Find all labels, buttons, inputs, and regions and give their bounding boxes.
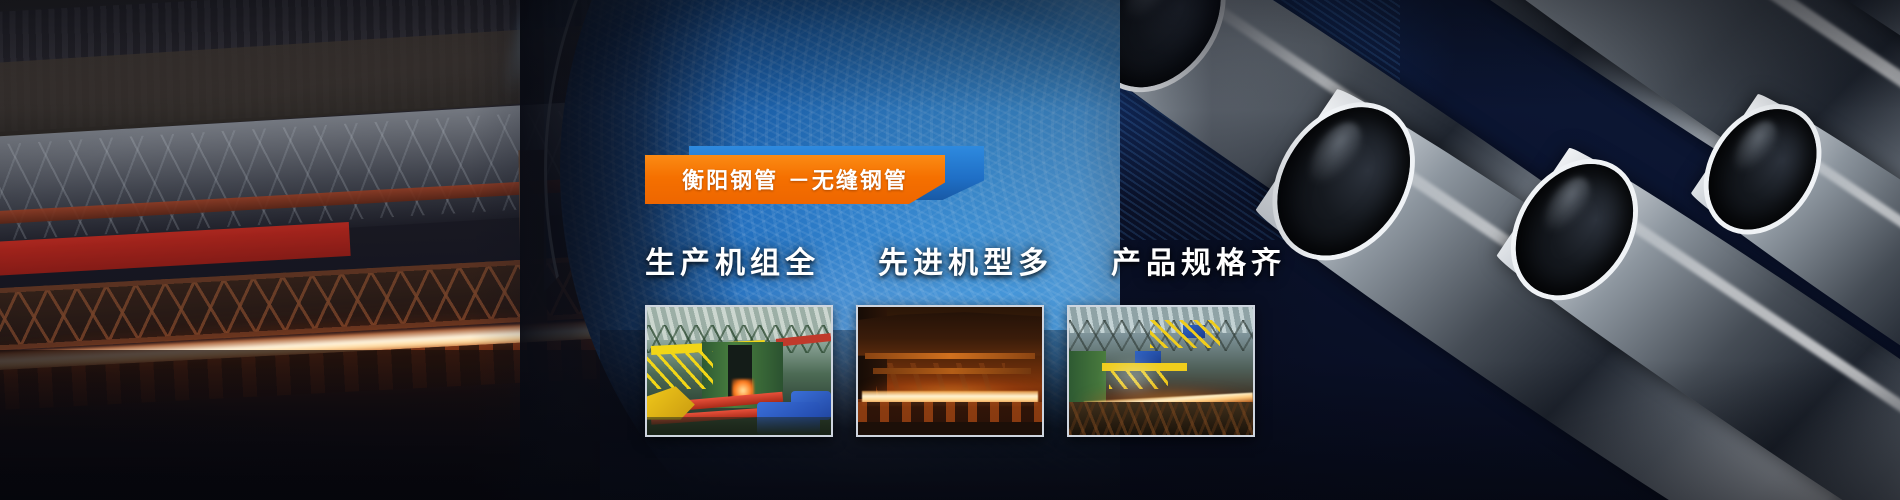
thumbnail-workshop-hot-bar xyxy=(1067,305,1255,437)
banner-content: 衡阳钢管 －无缝钢管 生产机组全 先进机型多 产品规格齐 xyxy=(0,0,1900,500)
thumbnail-row xyxy=(645,305,1255,437)
tagline-item-2: 先进机型多 xyxy=(878,238,1053,282)
badge-orange-ribbon: 衡阳钢管 －无缝钢管 xyxy=(645,155,945,204)
thumb2-machine-frame xyxy=(858,312,1042,356)
thumb1-yellow-stair xyxy=(645,351,713,389)
thumb3-yellow-gantry xyxy=(1150,320,1220,348)
thumb3-foreground-machinery xyxy=(1069,402,1253,435)
thumb2-beam xyxy=(865,353,1034,359)
thumbnail-hot-steel-billet xyxy=(856,305,1044,437)
thumbnail-rolling-mill-line xyxy=(645,305,833,437)
hero-banner: 衡阳钢管 －无缝钢管 生产机组全 先进机型多 产品规格齐 xyxy=(0,0,1900,500)
brand-badge: 衡阳钢管 －无缝钢管 xyxy=(645,155,945,204)
tagline-item-1: 生产机组全 xyxy=(645,238,820,282)
thumb2-floor xyxy=(858,422,1042,435)
thumb1-floor xyxy=(647,417,831,435)
tagline-item-3: 产品规格齐 xyxy=(1111,238,1286,282)
tagline-row: 生产机组全 先进机型多 产品规格齐 xyxy=(645,238,1286,282)
badge-label: 衡阳钢管 －无缝钢管 xyxy=(682,163,908,197)
